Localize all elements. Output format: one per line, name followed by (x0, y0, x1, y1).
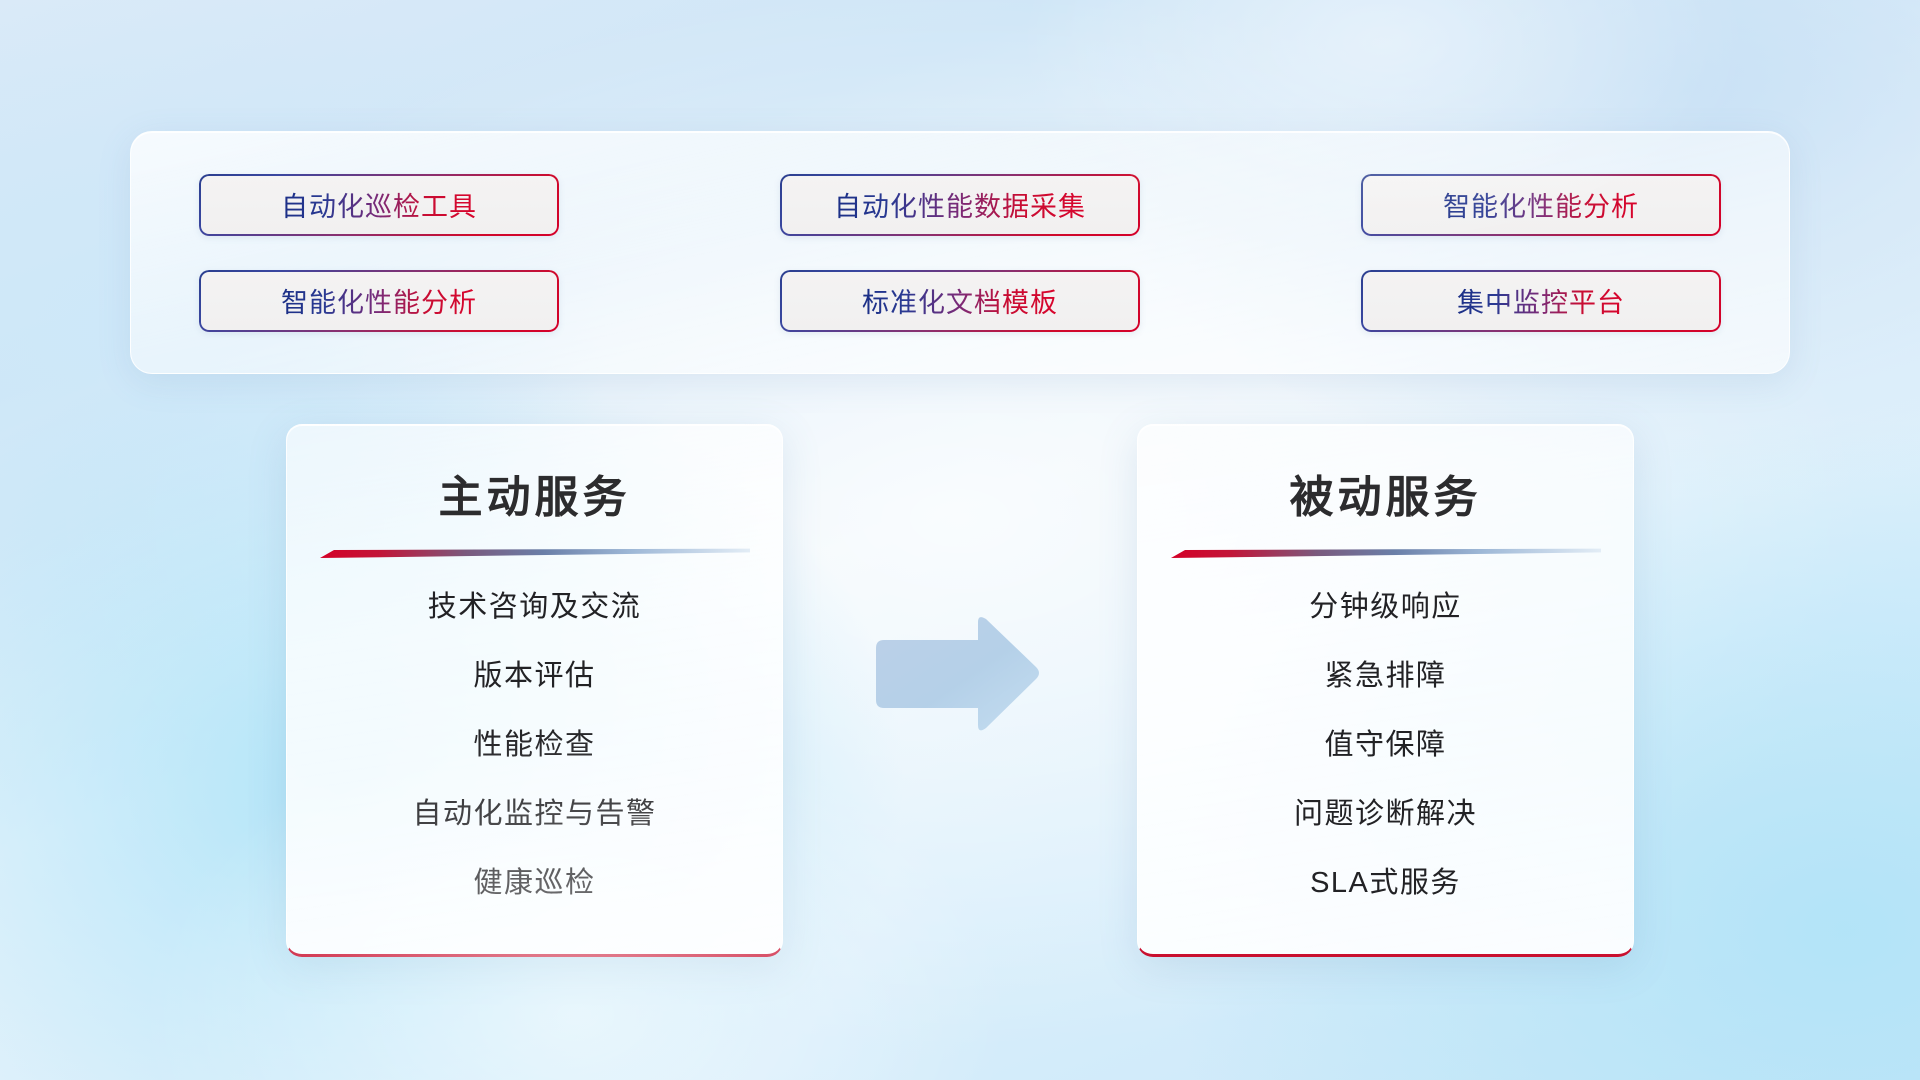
capability-pill[interactable]: 智能化性能分析 (1361, 174, 1721, 236)
capability-pill[interactable]: 自动化性能数据采集 (780, 174, 1140, 236)
service-card-proactive: 主动服务 技术咨询及交流 版本评估 性能检查 (286, 424, 783, 957)
card-item-list: 技术咨询及交流 版本评估 性能检查 自动化监控与告警 健康巡检 (287, 583, 782, 901)
list-item: 值守保障 (1324, 721, 1446, 763)
title-divider (1171, 547, 1601, 561)
list-item: 性能检查 (473, 721, 595, 763)
capability-pill-label: 自动化巡检工具 (281, 185, 477, 224)
capability-pill-label: 自动化性能数据采集 (834, 185, 1086, 224)
slide-canvas: 自动化巡检工具 自动化性能数据采集 智能化性能分析 智能化性能分析 标准化文档模… (0, 0, 1920, 1080)
capability-row-2: 智能化性能分析 标准化文档模板 集中监控平台 (199, 270, 1721, 332)
capabilities-panel: 自动化巡检工具 自动化性能数据采集 智能化性能分析 智能化性能分析 标准化文档模… (130, 131, 1790, 374)
capability-pill[interactable]: 标准化文档模板 (780, 270, 1140, 332)
capability-pill[interactable]: 自动化巡检工具 (199, 174, 559, 236)
list-item: 问题诊断解决 (1294, 790, 1477, 832)
capability-row-1: 自动化巡检工具 自动化性能数据采集 智能化性能分析 (199, 174, 1721, 236)
list-item: 技术咨询及交流 (428, 583, 642, 625)
right-arrow-icon (872, 614, 1042, 736)
list-item: 自动化监控与告警 (412, 790, 656, 832)
card-title: 被动服务 (1290, 461, 1482, 525)
service-card-reactive: 被动服务 分钟级响应 紧急排障 值守保障 (1137, 424, 1634, 957)
card-title: 主动服务 (439, 461, 631, 525)
title-divider (320, 547, 750, 561)
list-item: 分钟级响应 (1309, 583, 1462, 625)
capability-pill[interactable]: 智能化性能分析 (199, 270, 559, 332)
list-item: 版本评估 (473, 652, 595, 694)
gradient-rule-icon (1171, 547, 1601, 561)
gradient-rule-icon (320, 547, 750, 561)
capability-pill-label: 智能化性能分析 (1443, 185, 1639, 224)
capability-pill-label: 智能化性能分析 (281, 281, 477, 320)
capability-pill[interactable]: 集中监控平台 (1361, 270, 1721, 332)
capability-pill-label: 标准化文档模板 (862, 281, 1058, 320)
list-item: 紧急排障 (1324, 652, 1446, 694)
list-item: 健康巡检 (473, 859, 595, 901)
capability-pill-label: 集中监控平台 (1457, 281, 1625, 320)
list-item: SLA式服务 (1310, 859, 1461, 901)
card-item-list: 分钟级响应 紧急排障 值守保障 问题诊断解决 SLA式服务 (1138, 583, 1633, 901)
